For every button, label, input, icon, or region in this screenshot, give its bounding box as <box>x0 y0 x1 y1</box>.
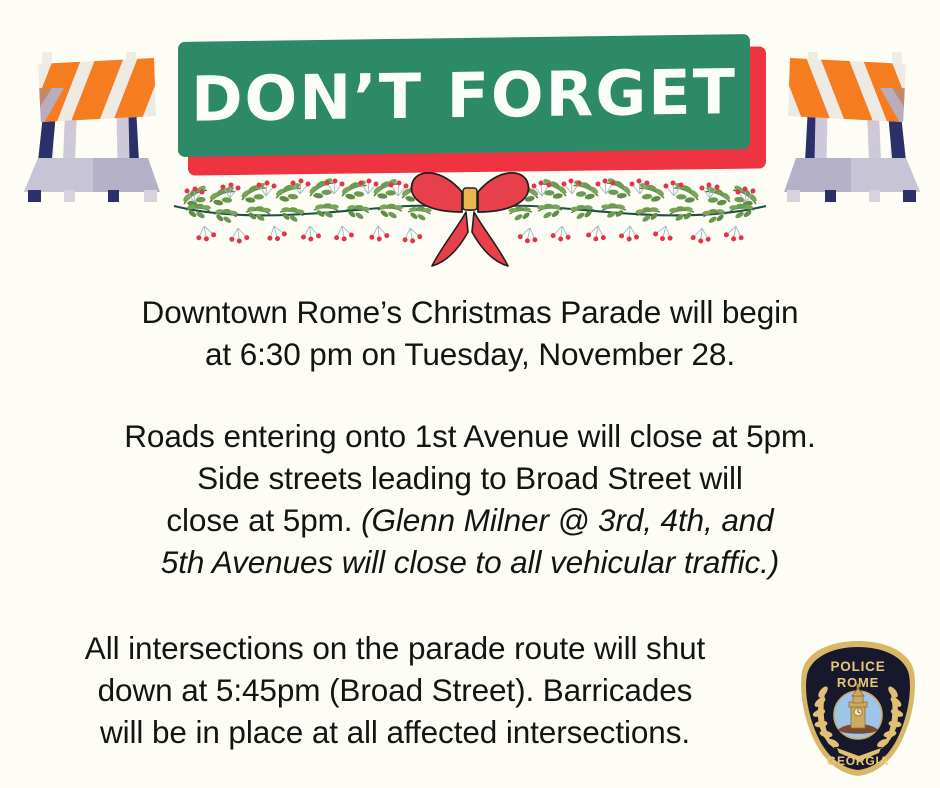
rome-police-badge-icon: POLICE ROME <box>793 638 923 780</box>
red-bow-icon <box>411 173 528 266</box>
intersections-line-1: All intersections on the parade route wi… <box>0 627 790 669</box>
road-closures-line-2: Side streets leading to Broad Street wil… <box>0 457 940 499</box>
dont-forget-banner: DON’T FORGET <box>178 38 768 173</box>
parade-time-paragraph: Downtown Rome’s Christmas Parade will be… <box>0 285 940 375</box>
badge-georgia-text: GEORGIA <box>827 754 889 768</box>
road-closures-line-3-italic: (Glenn Milner @ 3rd, 4th, and <box>361 502 774 538</box>
road-closures-paragraph: Roads entering onto 1st Avenue will clos… <box>0 415 940 583</box>
traffic-barricade-right-icon <box>766 30 936 210</box>
parade-time-line-1: Downtown Rome’s Christmas Parade will be… <box>0 291 940 333</box>
road-closures-line-3: close at 5pm. (Glenn Milner @ 3rd, 4th, … <box>0 499 940 541</box>
header-band: DON’T FORGET <box>0 0 940 280</box>
road-closures-line-3-plain: close at 5pm. <box>166 502 361 538</box>
road-closures-line-4: 5th Avenues will close to all vehicular … <box>0 541 940 583</box>
intersections-paragraph: All intersections on the parade route wi… <box>0 627 790 753</box>
christmas-garland-icon <box>170 162 770 274</box>
banner-title-text: DON’T FORGET <box>178 34 750 157</box>
parade-notice-poster: DON’T FORGET <box>0 0 940 788</box>
intersections-line-3: will be in place at all affected interse… <box>0 711 790 753</box>
intersections-line-2: down at 5:45pm (Broad Street). Barricade… <box>0 669 790 711</box>
traffic-barricade-left-icon <box>8 30 178 210</box>
parade-time-line-2: at 6:30 pm on Tuesday, November 28. <box>0 333 940 375</box>
road-closures-line-1: Roads entering onto 1st Avenue will clos… <box>0 415 940 457</box>
badge-police-text: POLICE <box>830 659 885 674</box>
road-closures-line-4-italic: 5th Avenues will close to all vehicular … <box>161 544 779 580</box>
